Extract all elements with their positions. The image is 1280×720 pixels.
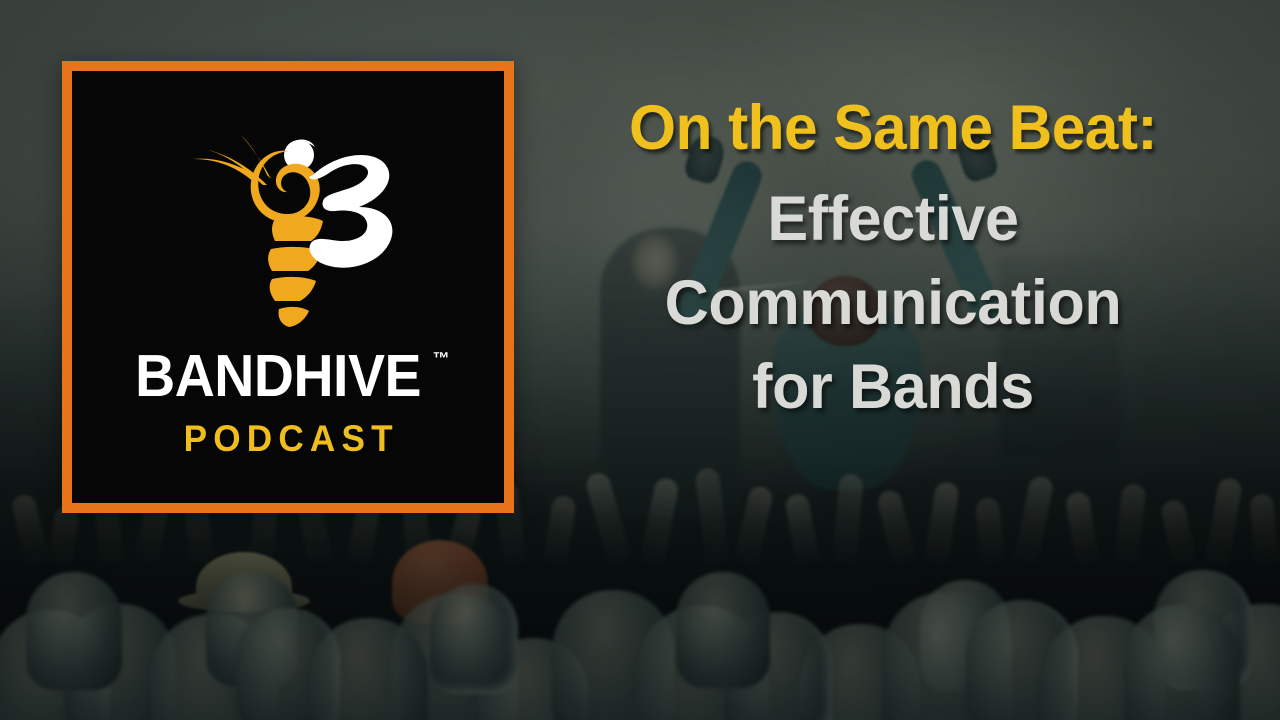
logo-card-inner: BANDHIVE ™ PODCAST <box>72 71 504 503</box>
crowd-head <box>310 618 428 720</box>
episode-title-subtitle: Effective Communication for Bands <box>545 178 1241 429</box>
podcast-episode-cover: BANDHIVE ™ PODCAST On the Same Beat: Eff… <box>0 0 1280 720</box>
crowd-head <box>26 572 122 690</box>
brand-name: BANDHIVE <box>136 347 422 406</box>
logo-subtitle: PODCAST <box>183 420 398 457</box>
bandhive-logo-card: BANDHIVE ™ PODCAST <box>62 61 514 513</box>
crowd-head <box>676 572 770 688</box>
crowd-head <box>1124 604 1240 720</box>
bee-logo-icon <box>171 123 406 333</box>
episode-title-block: On the Same Beat: Effective Communicatio… <box>534 96 1252 430</box>
crowd-head <box>430 584 518 694</box>
title-line-2: Communication <box>545 262 1241 346</box>
trademark-symbol: ™ <box>433 350 450 367</box>
bandhive-wordmark: BANDHIVE ™ <box>126 347 449 406</box>
title-line-3: for Bands <box>545 346 1241 430</box>
title-line-1: Effective <box>545 178 1241 262</box>
episode-title-accent: On the Same Beat: <box>548 96 1237 160</box>
